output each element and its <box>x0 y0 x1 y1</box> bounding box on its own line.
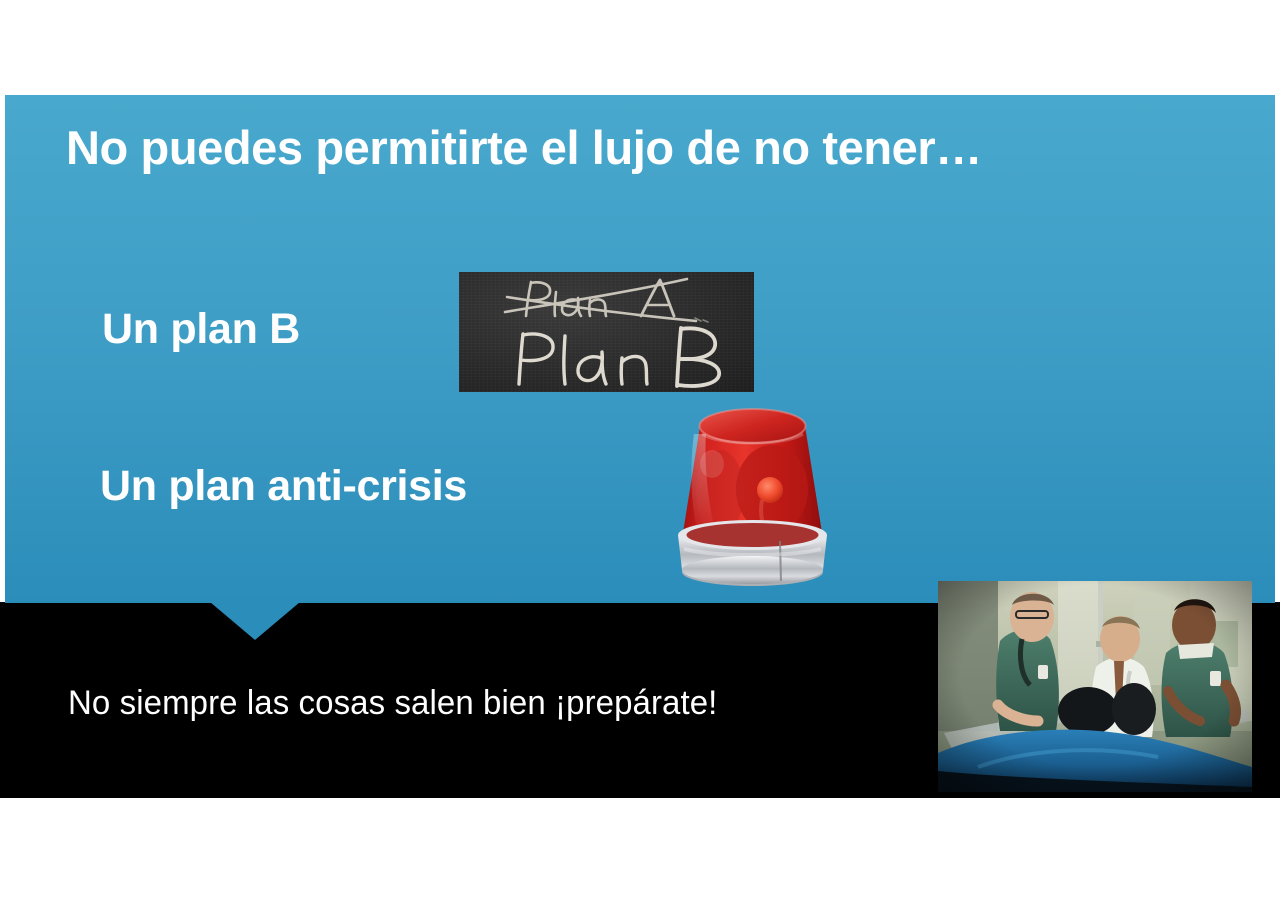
slide-caption: No siempre las cosas salen bien ¡prepára… <box>68 684 717 723</box>
chalkboard-handwriting <box>459 272 754 392</box>
chalkboard-image <box>459 272 754 392</box>
bullet-item-plan-anti-crisis: Un plan anti-crisis <box>100 462 467 511</box>
siren-image <box>660 404 845 594</box>
hospital-photo <box>938 581 1252 792</box>
speech-bubble-tail <box>210 602 300 640</box>
hospital-emergency-scene <box>938 581 1252 792</box>
slide-title: No puedes permitirte el lujo de no tener… <box>66 118 1076 178</box>
slide-canvas: No puedes permitirte el lujo de no tener… <box>0 0 1280 905</box>
red-beacon-icon <box>660 404 845 594</box>
bullet-item-plan-b: Un plan B <box>102 305 300 354</box>
